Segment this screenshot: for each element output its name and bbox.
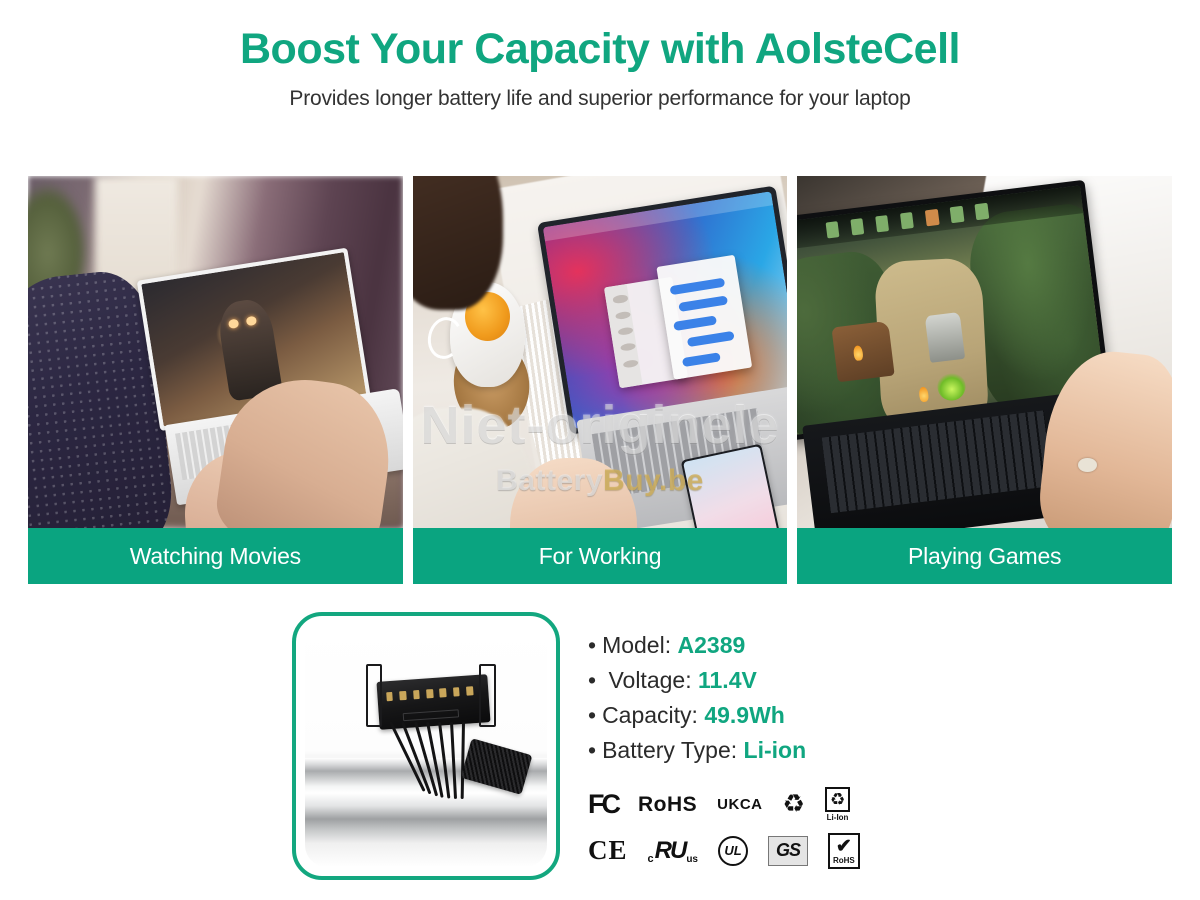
product-image-frame[interactable] (292, 612, 560, 880)
certification-row-1: FC RoHS UK CA ♻ ♻ Li-Ion (588, 782, 908, 828)
spec-bullet: • (588, 632, 596, 658)
scenario-panel-for-working[interactable]: For Working (413, 176, 788, 584)
liion-recycle-icon: ♻ Li-Ion (825, 787, 850, 822)
certification-row-2: CΕ c RU us UL GS ✔ RoHS (588, 828, 908, 874)
scenario-photo-playing-games (797, 176, 1172, 528)
liion-recycle-symbol: ♻ (830, 791, 845, 808)
scenario-caption-for-working: For Working (413, 528, 788, 584)
product-specs: •Model: A2389 • Voltage: 11.4V •Capacity… (588, 612, 908, 900)
spec-bullet: • (588, 737, 596, 763)
spec-item-voltage: • Voltage: 11.4V (588, 663, 908, 698)
ul-icon: UL (718, 836, 748, 866)
scenario-panels: Watching Movies (28, 176, 1172, 584)
spec-label-capacity: Capacity: (602, 702, 698, 728)
liion-recycle-box: ♻ (825, 787, 850, 812)
spec-value-capacity: 49.9Wh (704, 702, 785, 728)
recycle-icon: ♻ (783, 792, 805, 817)
gs-icon: GS (768, 836, 808, 866)
working-scene-art (413, 176, 788, 528)
ukca-line2: CA (740, 798, 763, 812)
gaming-scene-art (797, 176, 1172, 528)
spec-label-model: Model: (602, 632, 671, 658)
spec-value-battery-type: Li-ion (744, 737, 807, 763)
c-ru-us-icon: c RU us (648, 837, 698, 865)
ukca-line1: UK (717, 798, 740, 812)
spec-item-model: •Model: A2389 (588, 628, 908, 663)
scenario-photo-watching-movies (28, 176, 403, 528)
liion-recycle-caption: Li-Ion (827, 813, 849, 822)
product-photo (305, 625, 547, 867)
rohs-tick-symbol: ✔ (836, 837, 852, 856)
crus-prefix: c (648, 853, 654, 865)
header: Boost Your Capacity with AolsteCell Prov… (0, 0, 1200, 111)
fcc-icon: FC (588, 789, 618, 820)
spec-bullet: • (588, 702, 596, 728)
product-section: •Model: A2389 • Voltage: 11.4V •Capacity… (0, 612, 1200, 900)
page-subtitle: Provides longer battery life and superio… (0, 87, 1200, 111)
spec-label-voltage: Voltage: (602, 667, 692, 693)
movie-scene-art (28, 176, 403, 528)
scenario-caption-watching-movies: Watching Movies (28, 528, 403, 584)
spec-value-voltage: 11.4V (698, 667, 757, 693)
scenario-photo-for-working (413, 176, 788, 528)
spec-bullet: • (588, 667, 596, 693)
rohs-tick-icon: ✔ RoHS (828, 833, 860, 869)
page-title: Boost Your Capacity with AolsteCell (0, 26, 1200, 73)
spec-value-model: A2389 (678, 632, 746, 658)
spec-list: •Model: A2389 • Voltage: 11.4V •Capacity… (588, 628, 908, 768)
promo-page: Boost Your Capacity with AolsteCell Prov… (0, 0, 1200, 900)
ce-icon: CΕ (588, 835, 628, 866)
spec-label-battery-type: Battery Type: (602, 737, 737, 763)
spec-item-capacity: •Capacity: 49.9Wh (588, 698, 908, 733)
rohs-tick-caption: RoHS (833, 857, 855, 865)
scenario-caption-playing-games: Playing Games (797, 528, 1172, 584)
scenario-panel-watching-movies[interactable]: Watching Movies (28, 176, 403, 584)
certification-marks: FC RoHS UK CA ♻ ♻ Li-Ion CΕ (588, 782, 908, 874)
crus-suffix: us (686, 854, 698, 865)
rohs-text-icon: RoHS (638, 793, 697, 817)
crus-main: RU (655, 837, 686, 865)
ukca-icon: UK CA (717, 798, 762, 812)
scenario-panel-playing-games[interactable]: Playing Games (797, 176, 1172, 584)
spec-item-battery-type: •Battery Type: Li-ion (588, 733, 908, 768)
